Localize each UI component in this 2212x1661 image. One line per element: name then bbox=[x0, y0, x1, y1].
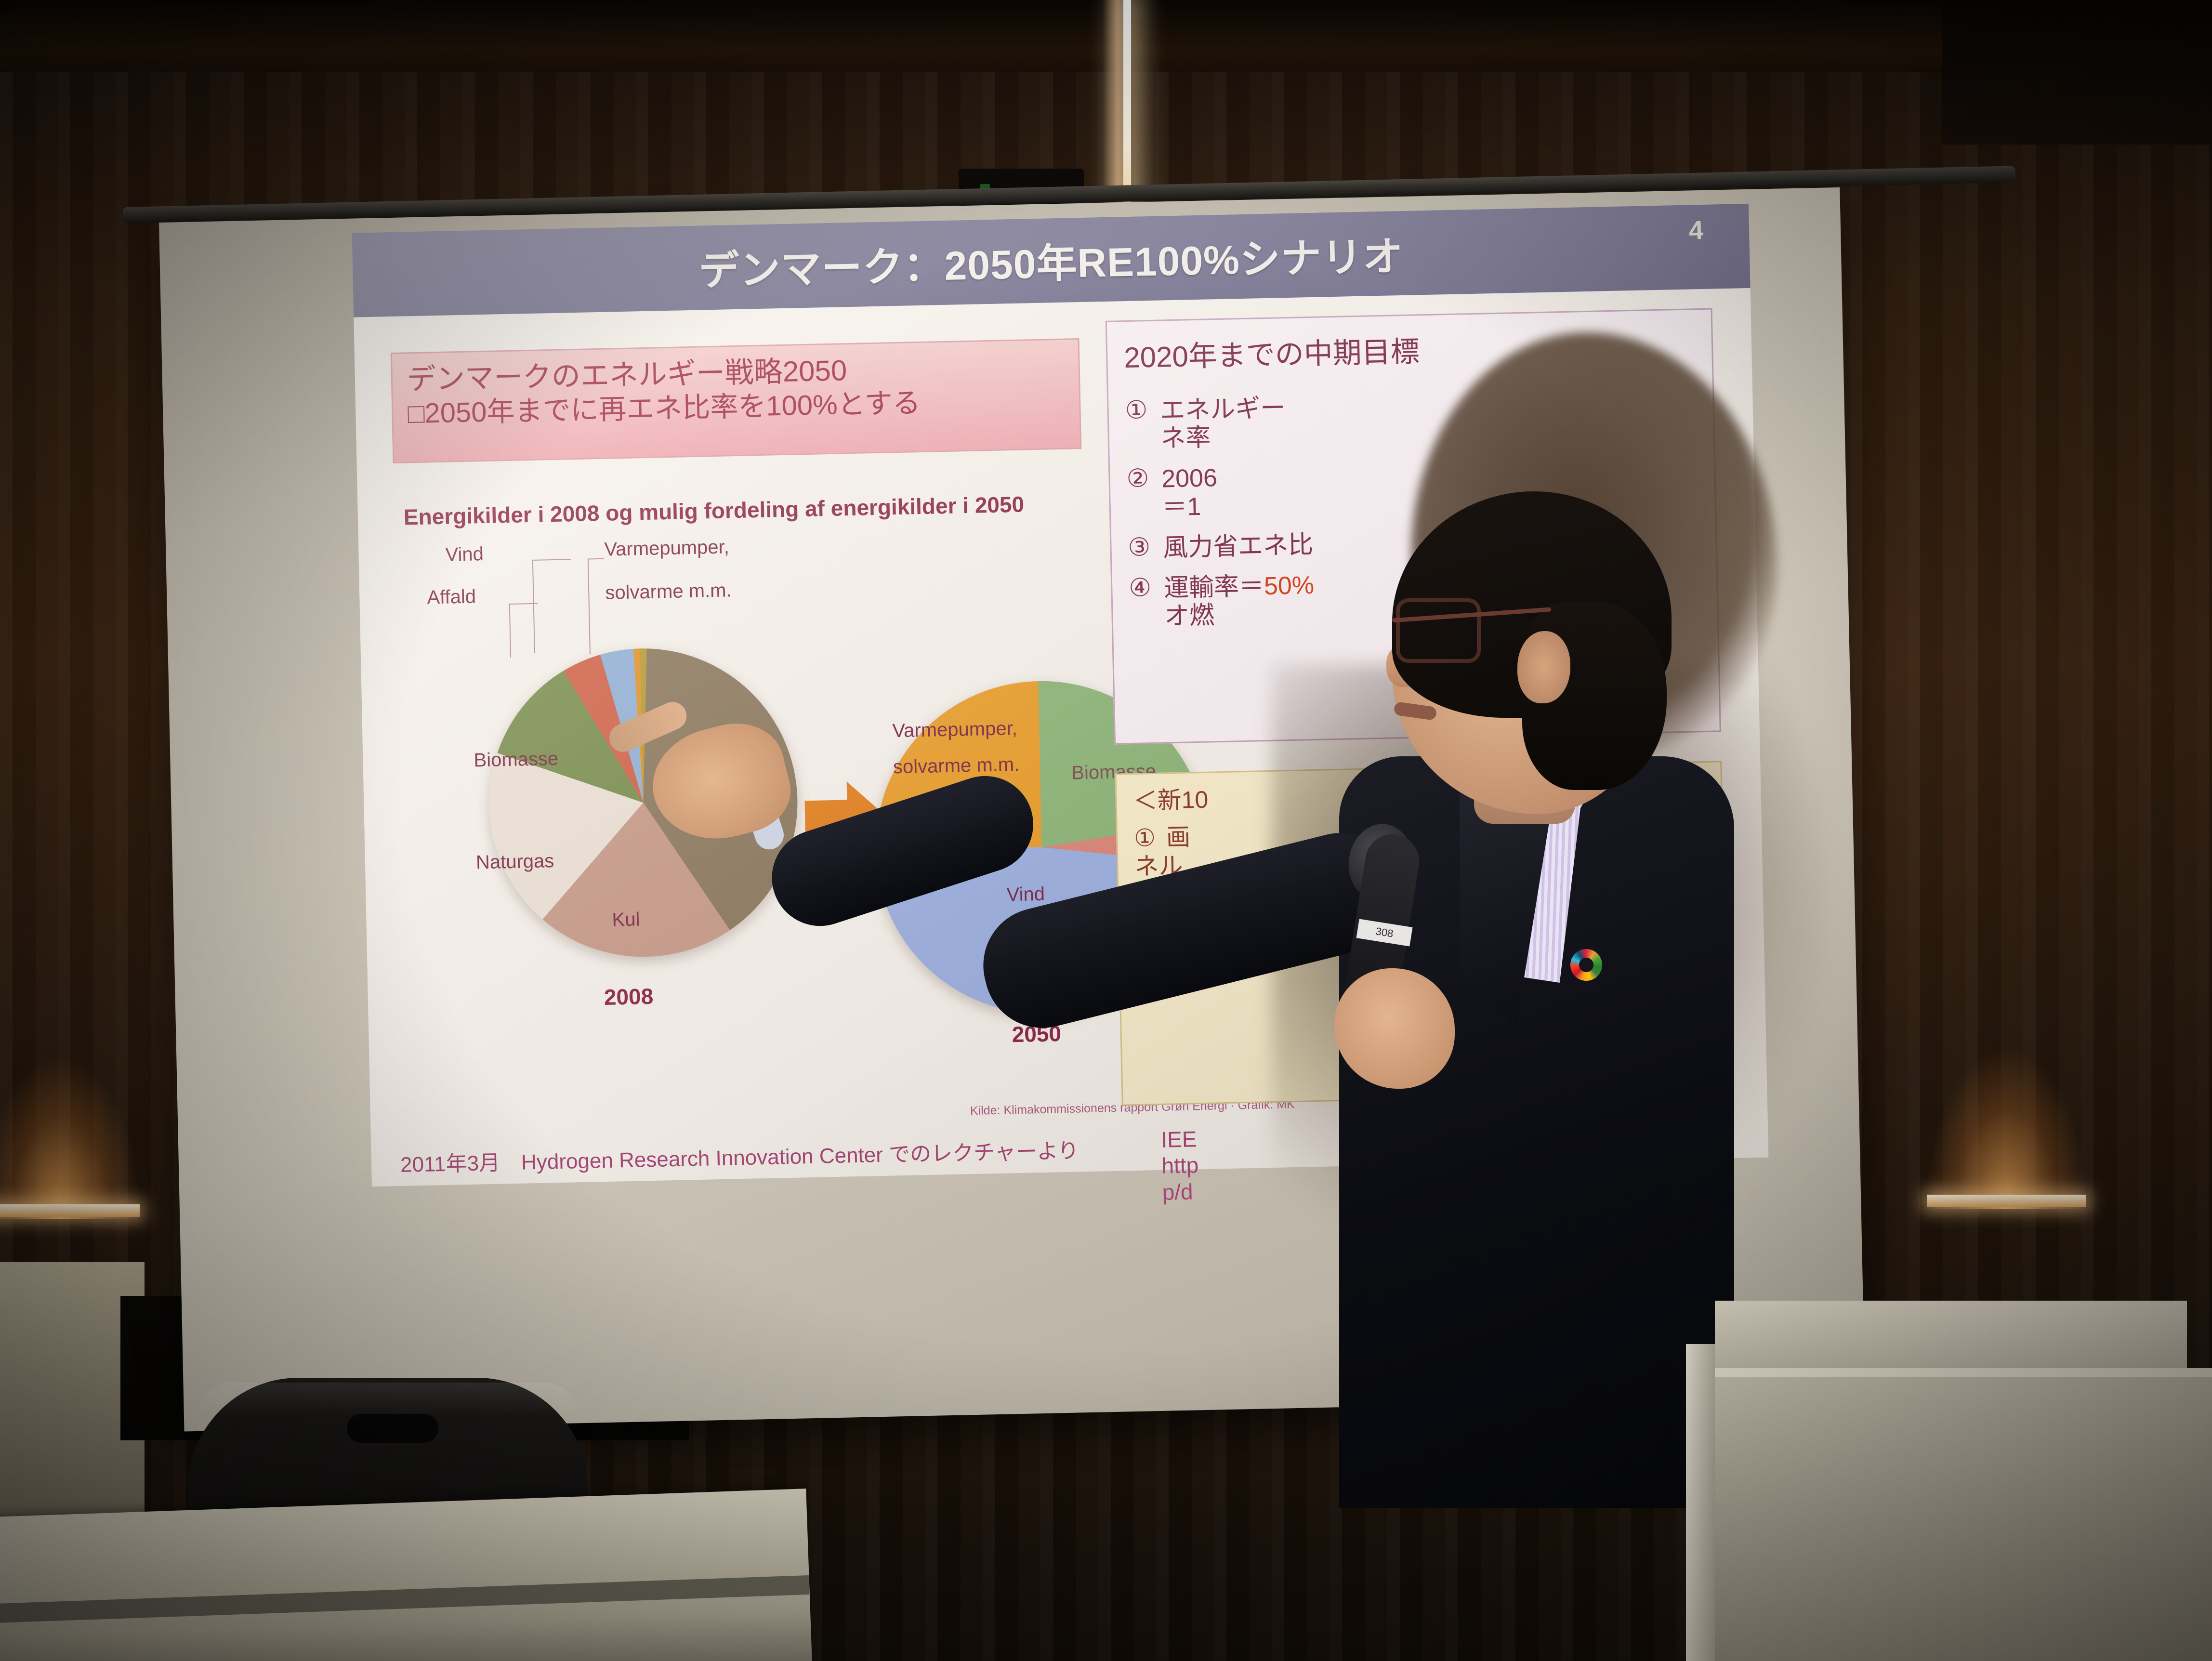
slide-number: 4 bbox=[1688, 215, 1703, 246]
pie2050-label-varmepumper-l1: Varmepumper, bbox=[892, 718, 1017, 742]
leader-line-varmepumper-h bbox=[588, 558, 604, 561]
plan-number-1: ① bbox=[1134, 824, 1156, 853]
goal-number-3: ③ bbox=[1128, 534, 1151, 563]
link-line-1: IEE bbox=[1161, 1126, 1198, 1153]
chair-highlight bbox=[197, 1383, 578, 1416]
leader-line-affald bbox=[509, 603, 539, 658]
goal-text-2: 2006 ＝1 bbox=[1161, 464, 1218, 522]
pie2050-slice-vind: Vind bbox=[1006, 883, 1045, 906]
pie2008-label-affald: Affald bbox=[427, 586, 476, 608]
pie2008-slice-biomasse: Biomasse bbox=[474, 748, 559, 772]
slide-title: デンマーク：2050年RE100%シナリオ bbox=[698, 224, 1404, 297]
goal-number-4: ④ bbox=[1129, 575, 1152, 631]
link-line-3: p/d bbox=[1162, 1178, 1199, 1205]
goal-text-1-line1: エネルギー bbox=[1160, 394, 1286, 425]
right-desk-post bbox=[1686, 1344, 1715, 1661]
wall-sconce-bar-left bbox=[0, 1204, 140, 1217]
goal-text-2-line1: 2006 bbox=[1161, 464, 1218, 494]
foreground-table bbox=[0, 1489, 812, 1661]
ceiling-dark-area bbox=[1942, 0, 2212, 145]
presenter-ear bbox=[1517, 631, 1570, 703]
leader-line-varmepumper bbox=[588, 558, 591, 654]
pie2008-label-varmepumper-l1: Varmepumper, bbox=[604, 536, 729, 560]
pie2008-label-vind: Vind bbox=[445, 543, 484, 566]
microphone-label-text: 308 bbox=[1375, 925, 1394, 940]
chair-handle-slot bbox=[347, 1414, 438, 1443]
light-gap bbox=[1123, 0, 1131, 207]
pie2008-slice-naturgas: Naturgas bbox=[476, 850, 554, 873]
link-line-2: http bbox=[1161, 1152, 1199, 1179]
wall-sconce-glow bbox=[1927, 1050, 2086, 1209]
pie2050-label-varmepumper-l2: solvarme m.m. bbox=[893, 754, 1020, 778]
chart-caption: Energikilder i 2008 og mulig fordeling a… bbox=[403, 491, 1024, 530]
pie2008-year: 2008 bbox=[604, 983, 653, 1010]
goal-text-1-line2: ネ率 bbox=[1160, 422, 1286, 453]
goal-text-1: エネルギー ネ率 bbox=[1160, 394, 1286, 453]
plan-text-1: 画 bbox=[1166, 823, 1190, 852]
slide-title-bar: デンマーク：2050年RE100%シナリオ bbox=[352, 204, 1751, 317]
right-desk-top-edge bbox=[1686, 1368, 2212, 1377]
strategy-highlight-box: デンマークのエネルギー戦略2050 □2050年までに再エネ比率を100%とする bbox=[391, 338, 1082, 463]
wall-sconce-bar bbox=[1927, 1195, 2086, 1207]
right-desk-panel bbox=[1686, 1368, 2212, 1661]
goal-number-2: ② bbox=[1126, 466, 1150, 522]
sdg-pin-center bbox=[1579, 958, 1593, 972]
goal-number-1: ① bbox=[1125, 397, 1148, 453]
pie2008-label-varmepumper-l2: solvarme m.m. bbox=[605, 580, 732, 604]
goal-text-2-line2: ＝1 bbox=[1162, 492, 1218, 522]
pie2008-slice-kul: Kul bbox=[612, 909, 640, 931]
reference-links: IEE http p/d bbox=[1161, 1126, 1199, 1205]
wall-sconce-glow-left bbox=[0, 1060, 140, 1219]
slide-footer-note: 2011年3月 Hydrogen Research Innovation Cen… bbox=[400, 1133, 1079, 1178]
screenshot-root: デンマーク：2050年RE100%シナリオ 4 デンマークのエネルギー戦略205… bbox=[0, 0, 2212, 1661]
glasses-icon bbox=[1396, 598, 1481, 663]
